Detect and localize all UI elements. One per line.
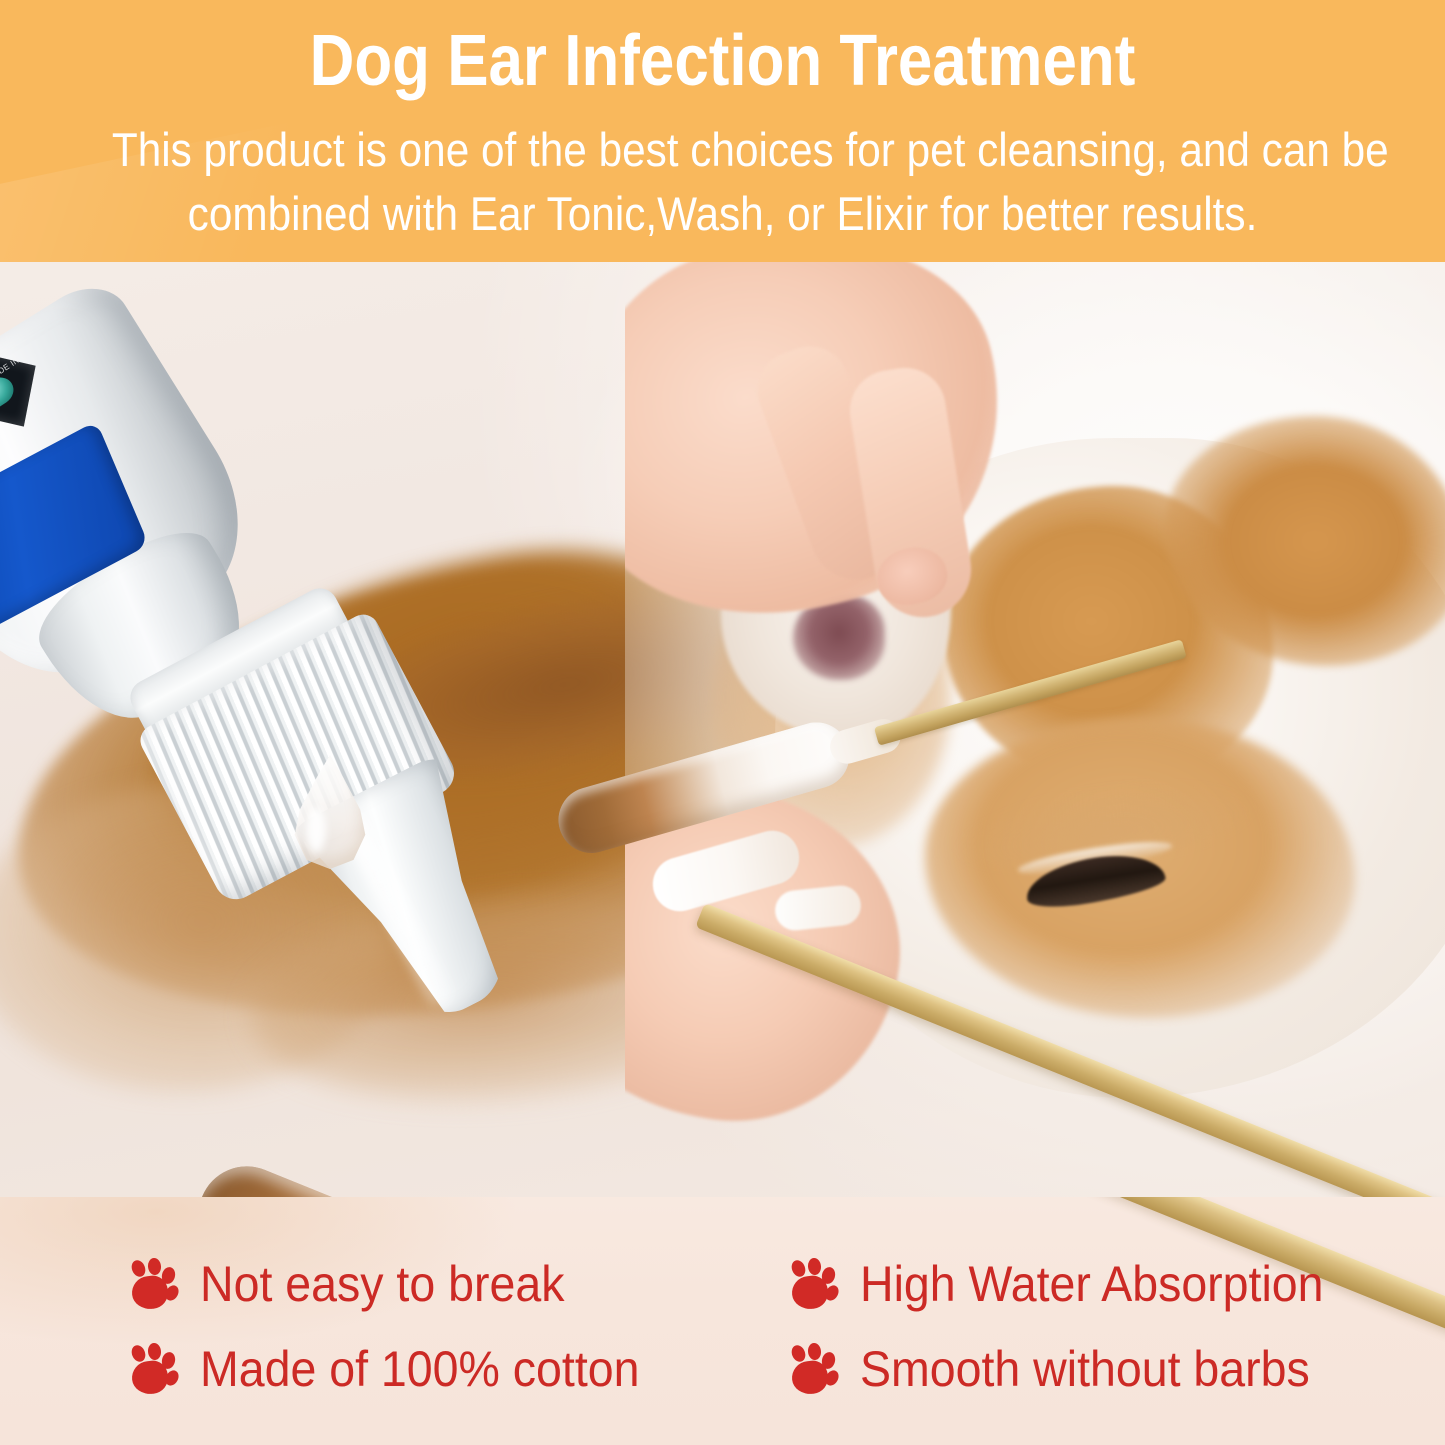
paw-print-icon	[790, 1258, 838, 1310]
paw-print-icon	[130, 1343, 178, 1395]
droplet-highlight	[306, 807, 326, 853]
feature-label: Smooth without barbs	[860, 1341, 1310, 1397]
page-subtitle: This product is one of the best choices …	[72, 118, 1373, 246]
header-banner: Dog Ear Infection Treatment This product…	[0, 0, 1445, 262]
paw-print-icon	[130, 1258, 178, 1310]
feature-label: Made of 100% cotton	[200, 1341, 639, 1397]
dropper-bottle: MADE IN	[0, 262, 523, 871]
badge-emblem-icon	[0, 372, 19, 410]
page-title: Dog Ear Infection Treatment	[101, 18, 1344, 104]
swab-cotton-tip-soiled	[184, 1152, 600, 1197]
product-photo: MADE IN	[0, 262, 1445, 1197]
subtitle-line-2: combined with Ear Tonic,Wash, or Elixir …	[112, 182, 1333, 246]
feature-grid: Not easy to break High Water Absorption …	[0, 1197, 1445, 1445]
feature-item: Not easy to break	[130, 1256, 790, 1312]
product-infographic: Dog Ear Infection Treatment This product…	[0, 0, 1445, 1445]
feature-label: High Water Absorption	[860, 1256, 1324, 1312]
feature-item: Smooth without barbs	[790, 1341, 1445, 1397]
paw-print-icon	[790, 1343, 838, 1395]
feature-item: Made of 100% cotton	[130, 1341, 790, 1397]
feature-list-panel: Not easy to break High Water Absorption …	[0, 1197, 1445, 1445]
feature-label: Not easy to break	[200, 1256, 564, 1312]
subtitle-line-1: This product is one of the best choices …	[112, 118, 1333, 182]
feature-item: High Water Absorption	[790, 1256, 1445, 1312]
